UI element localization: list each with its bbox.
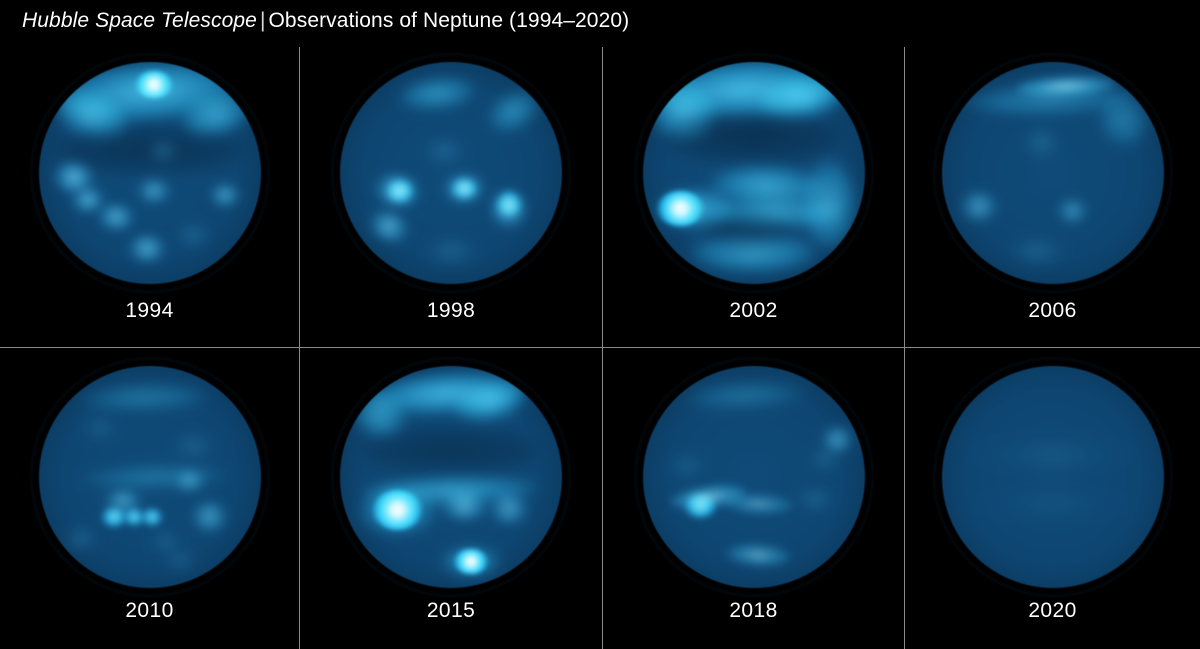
cloud-feature	[387, 181, 414, 201]
cloud-feature	[347, 385, 412, 445]
cloud-feature	[373, 490, 422, 530]
cloud-feature	[52, 62, 246, 126]
cloud-feature	[691, 233, 815, 273]
planet-stage	[905, 352, 1200, 602]
disk-clip	[39, 62, 261, 284]
neptune-disk-1994	[39, 62, 261, 284]
neptune-disk-2015	[340, 366, 562, 588]
disk-clip	[39, 366, 261, 588]
cloud-feature	[643, 72, 724, 149]
cloud-feature	[1017, 74, 1116, 99]
cloud-feature	[95, 203, 137, 231]
cloud-feature	[362, 426, 540, 475]
cloud-feature	[65, 529, 96, 549]
cloud-feature	[979, 493, 1126, 515]
observation-grid: 19941998200220062010201520182020	[0, 47, 1200, 649]
observation-panel-2010[interactable]: 2010	[0, 348, 299, 649]
cloud-feature	[83, 418, 119, 438]
planet-stage	[603, 47, 904, 299]
neptune-observation-figure: Hubble Space Telescope|Observations of N…	[0, 0, 1200, 649]
cloud-feature	[724, 492, 792, 515]
planet-stage	[603, 352, 904, 602]
cloud-feature	[1057, 199, 1088, 223]
title-separator: |	[257, 9, 269, 32]
page-title: Hubble Space Telescope|Observations of N…	[22, 9, 629, 33]
neptune-disk-1998	[340, 62, 562, 284]
planet-stage	[0, 47, 299, 299]
cloud-feature	[424, 140, 464, 162]
cloud-feature	[489, 493, 529, 524]
cloud-feature	[665, 111, 843, 164]
cloud-feature	[975, 441, 1130, 468]
cloud-feature	[165, 552, 196, 570]
panel-year-label: 2002	[603, 299, 904, 347]
cloud-feature	[360, 486, 435, 535]
cloud-feature	[686, 379, 803, 412]
panel-year-label: 2010	[0, 599, 299, 649]
cloud-feature	[1008, 240, 1066, 262]
cloud-feature	[646, 62, 844, 123]
cloud-feature	[711, 164, 823, 208]
observation-panel-1994[interactable]: 1994	[0, 47, 299, 347]
cloud-feature	[491, 189, 527, 229]
panel-year-label: 1998	[300, 299, 602, 347]
cloud-feature	[705, 213, 794, 249]
cloud-feature	[82, 382, 207, 413]
cloud-feature	[172, 471, 208, 491]
disk-clip	[942, 366, 1164, 588]
cloud-feature	[136, 180, 172, 202]
cloud-feature	[498, 192, 520, 216]
panel-year-label: 2006	[905, 299, 1200, 347]
cloud-feature	[452, 180, 476, 198]
cloud-feature	[481, 82, 545, 139]
cloud-feature	[124, 509, 144, 525]
disk-clip	[340, 366, 562, 588]
planet-stage	[0, 352, 299, 602]
cloud-feature	[424, 240, 477, 262]
cloud-feature	[963, 81, 1133, 118]
disk-clip	[942, 62, 1164, 284]
cloud-feature	[364, 474, 538, 507]
planet-stage	[905, 47, 1200, 299]
cloud-feature	[959, 192, 999, 221]
cloud-feature	[50, 159, 99, 195]
cloud-feature	[399, 74, 477, 113]
cloud-feature	[150, 533, 181, 551]
cloud-feature	[176, 86, 255, 144]
cloud-feature	[371, 170, 425, 211]
cloud-feature	[1091, 86, 1155, 153]
cloud-feature	[711, 197, 840, 228]
cloud-feature	[438, 493, 491, 520]
cloud-feature	[755, 68, 850, 127]
observation-panel-2020[interactable]: 2020	[905, 348, 1200, 649]
cloud-feature	[454, 549, 487, 573]
neptune-disk-2002	[643, 62, 865, 284]
planet-stage	[300, 47, 602, 299]
cloud-feature	[811, 448, 838, 470]
cloud-feature	[822, 426, 853, 453]
observation-panel-2002[interactable]: 2002	[603, 47, 904, 347]
cloud-feature	[135, 71, 173, 98]
neptune-disk-2010	[39, 366, 261, 588]
title-instrument: Hubble Space Telescope	[22, 9, 257, 32]
cloud-feature	[68, 186, 106, 213]
neptune-disk-2020	[942, 366, 1164, 588]
disk-clip	[643, 62, 865, 284]
cloud-feature	[726, 541, 790, 567]
cloud-feature	[192, 501, 228, 532]
cloud-feature	[670, 481, 748, 513]
cloud-feature	[150, 141, 177, 161]
panel-year-label: 2015	[300, 599, 602, 649]
observation-panel-1998[interactable]: 1998	[300, 47, 602, 347]
title-subject: Observations of Neptune (1994–2020)	[269, 9, 630, 32]
cloud-feature	[142, 509, 162, 525]
observation-panel-2015[interactable]: 2015	[300, 348, 602, 649]
cloud-feature	[127, 236, 167, 260]
neptune-disk-2018	[643, 366, 865, 588]
cloud-feature	[802, 160, 855, 249]
cloud-feature	[101, 491, 145, 511]
cloud-feature	[209, 184, 240, 206]
cloud-feature	[365, 367, 527, 418]
observation-panel-2018[interactable]: 2018	[603, 348, 904, 649]
cloud-feature	[658, 189, 733, 229]
disk-clip	[340, 62, 562, 284]
cloud-feature	[1022, 124, 1060, 160]
cloud-feature	[798, 488, 834, 510]
cloud-feature	[56, 126, 242, 175]
planet-stage	[300, 352, 602, 602]
cloud-feature	[685, 495, 716, 517]
cloud-feature	[441, 174, 487, 204]
cloud-feature	[442, 546, 500, 577]
cloud-feature	[49, 83, 134, 149]
cloud-feature	[102, 508, 126, 526]
neptune-disk-2006	[942, 62, 1164, 284]
observation-panel-2006[interactable]: 2006	[905, 47, 1200, 347]
panel-year-label: 2018	[603, 599, 904, 649]
cloud-feature	[657, 191, 704, 227]
disk-clip	[643, 366, 865, 588]
panel-year-label: 2020	[905, 599, 1200, 649]
cloud-feature	[174, 435, 214, 457]
cloud-feature	[669, 455, 705, 477]
figure-header: Hubble Space Telescope|Observations of N…	[0, 0, 1200, 47]
cloud-feature	[363, 205, 414, 248]
cloud-feature	[83, 463, 226, 490]
cloud-feature	[178, 225, 209, 245]
cloud-feature	[453, 377, 530, 427]
panel-year-label: 1994	[0, 299, 299, 347]
